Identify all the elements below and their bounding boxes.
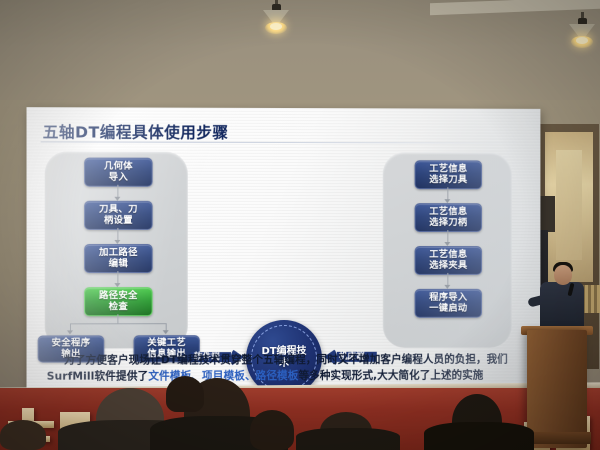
paragraph-line-2-b: 等多种实现形式,大大简化了上述的实施: [298, 370, 483, 383]
flow-box-line2: 选择刀柄: [429, 218, 467, 229]
audience-shoulders: [296, 428, 400, 450]
flow-box-line2: 选择夹具: [429, 260, 467, 271]
flow-box-path-safety-check[interactable]: 路径安全 检查: [84, 287, 153, 316]
connector: [117, 314, 118, 323]
flow-box-line1: 安全程序: [52, 338, 91, 349]
flow-box-geometry-import[interactable]: 几何体 导入: [84, 158, 153, 187]
flow-box-line1: 程序导入: [429, 292, 467, 303]
connector-arrow-icon: [162, 330, 168, 334]
flow-box-select-fixture[interactable]: 工艺信息 选择夹具: [415, 246, 482, 275]
title-divider: [41, 141, 527, 143]
flow-box-line2: 柄设置: [104, 215, 133, 226]
flow-box-tool-holder-setup[interactable]: 刀具、刀 柄设置: [84, 201, 153, 230]
flow-box-line1: 关键工艺: [147, 338, 186, 349]
audience-shoulders: [424, 422, 534, 450]
paragraph-line-1: 为了方便客户现场让DT编程技术贯穿整个五轴编程，同时又不增加客户编程人员的负担，…: [47, 351, 525, 369]
slide-paragraph: 为了方便客户现场让DT编程技术贯穿整个五轴编程，同时又不增加客户编程人员的负担，…: [47, 351, 525, 385]
flow-box-line2: 编辑: [109, 259, 128, 270]
flow-box-line2: 检查: [109, 302, 128, 313]
flow-box-line1: 几何体: [104, 161, 133, 172]
flow-box-line2: 选择刀具: [429, 175, 467, 186]
flow-box-line2: 一键启动: [429, 303, 467, 314]
photo-scene: 五轴DT编程具体使用步骤 几何体 导入 刀具、刀 柄设置 加工路径 编辑 路径安…: [0, 0, 600, 450]
audience-head: [166, 376, 204, 412]
flow-box-program-import-one-key-start[interactable]: 程序导入 一键启动: [415, 289, 482, 318]
flow-box-line1: 工艺信息: [429, 164, 467, 175]
connector: [70, 323, 166, 324]
doorway-panel: [556, 150, 582, 260]
projection-screen: 五轴DT编程具体使用步骤 几何体 导入 刀具、刀 柄设置 加工路径 编辑 路径安…: [27, 107, 541, 395]
connector-arrow-icon: [66, 330, 72, 334]
paragraph-line-2-a: SurfMill软件提供了: [47, 371, 149, 383]
flow-box-line1: 工艺信息: [429, 250, 467, 261]
flow-box-line1: 工艺信息: [429, 207, 467, 218]
flow-box-toolpath-edit[interactable]: 加工路径 编辑: [84, 244, 153, 273]
flow-box-select-holder[interactable]: 工艺信息 选择刀柄: [415, 203, 482, 232]
flow-box-select-tool[interactable]: 工艺信息 选择刀具: [415, 160, 482, 189]
flow-box-line2: 导入: [109, 172, 128, 183]
audience-head: [250, 410, 294, 450]
flow-box-line1: 刀具、刀: [99, 204, 138, 215]
podium: [527, 330, 587, 448]
slide-title: 五轴DT编程具体使用步骤: [43, 120, 229, 143]
flow-box-line1: 路径安全: [99, 291, 138, 302]
flow-box-line1: 加工路径: [99, 248, 138, 259]
speaker-head: [554, 265, 572, 285]
audience-head: [0, 420, 46, 450]
